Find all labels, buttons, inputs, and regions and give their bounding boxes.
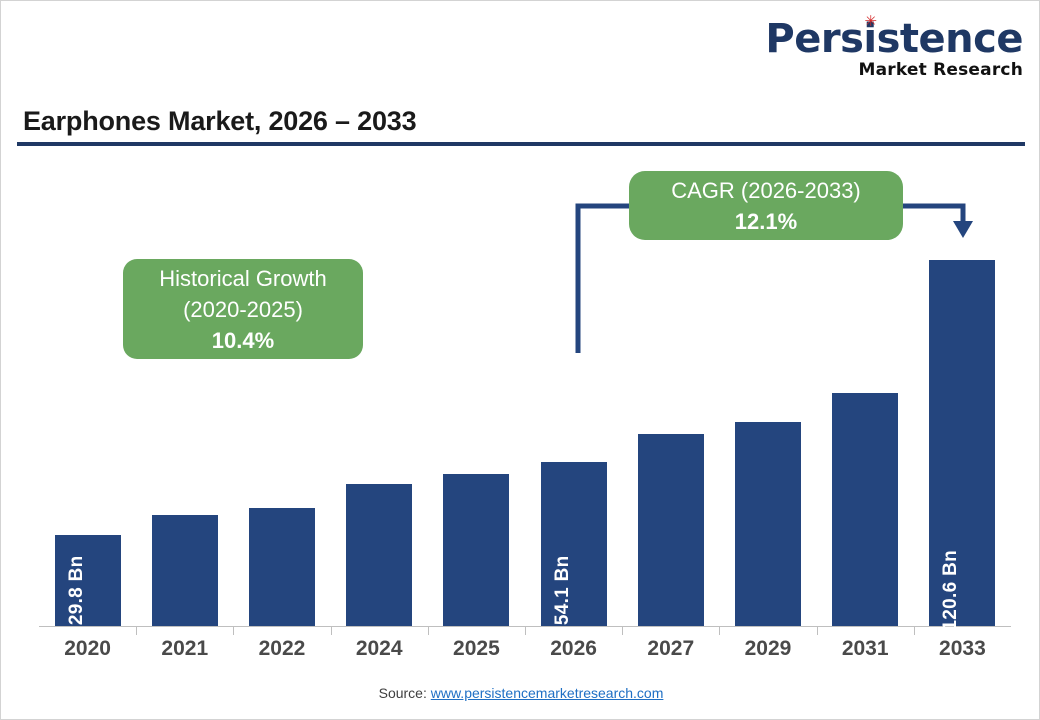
axis-tick: [914, 626, 915, 635]
bar-2026: US$ 54.1 Bn: [541, 462, 607, 626]
axis-tick: [233, 626, 234, 635]
x-axis-labels: 2020202120222024202520262027202920312033: [1, 637, 1040, 667]
x-label-2033: 2033: [914, 637, 1011, 661]
source-link[interactable]: www.persistencemarketresearch.com: [431, 685, 664, 701]
axis-tick: [331, 626, 332, 635]
axis-tick: [622, 626, 623, 635]
bar-2024: [346, 484, 412, 626]
cagr-line1: CAGR (2026-2033): [671, 175, 861, 206]
x-label-2029: 2029: [719, 637, 816, 661]
x-label-2025: 2025: [428, 637, 525, 661]
x-label-2026: 2026: [525, 637, 622, 661]
historical-growth-line2: (2020-2025): [183, 294, 303, 325]
source-prefix: Source:: [379, 685, 431, 701]
logo-star-icon: ✳: [864, 16, 875, 27]
x-label-2024: 2024: [331, 637, 428, 661]
bar-2029: [735, 422, 801, 626]
x-label-2021: 2021: [136, 637, 233, 661]
axis-tick: [428, 626, 429, 635]
axis-tick: [817, 626, 818, 635]
cagr-value: 12.1%: [735, 206, 797, 237]
x-label-2031: 2031: [817, 637, 914, 661]
historical-growth-callout: Historical Growth (2020-2025) 10.4%: [123, 259, 363, 359]
title-underline: [17, 142, 1025, 146]
cagr-callout: CAGR (2026-2033) 12.1%: [629, 171, 903, 240]
chart-page: Persistence ✳ Market Research Earphones …: [0, 0, 1040, 720]
x-label-2020: 2020: [39, 637, 136, 661]
axis-tick: [719, 626, 720, 635]
bar-2021: [152, 515, 218, 626]
axis-tick: [136, 626, 137, 635]
source-note: Source: www.persistencemarketresearch.co…: [1, 685, 1040, 701]
x-label-2022: 2022: [233, 637, 330, 661]
axis-tick: [525, 626, 526, 635]
logo-tagline: Market Research: [765, 62, 1023, 79]
bar-2022: [249, 508, 315, 626]
bar-2027: [638, 434, 704, 626]
company-logo: Persistence ✳ Market Research: [765, 19, 1023, 79]
historical-growth-value: 10.4%: [212, 325, 274, 356]
bar-2031: [832, 393, 898, 626]
x-label-2027: 2027: [622, 637, 719, 661]
historical-growth-line1: Historical Growth: [159, 263, 326, 294]
logo-name: Persistence: [765, 16, 1023, 62]
logo-wordmark: Persistence ✳: [765, 19, 1023, 59]
bar-2020: US$ 29.8 Bn: [55, 535, 121, 626]
bar-2025: [443, 474, 509, 626]
bar-2033: US$ 120.6 Bn: [929, 260, 995, 626]
page-title: Earphones Market, 2026 – 2033: [23, 106, 416, 137]
